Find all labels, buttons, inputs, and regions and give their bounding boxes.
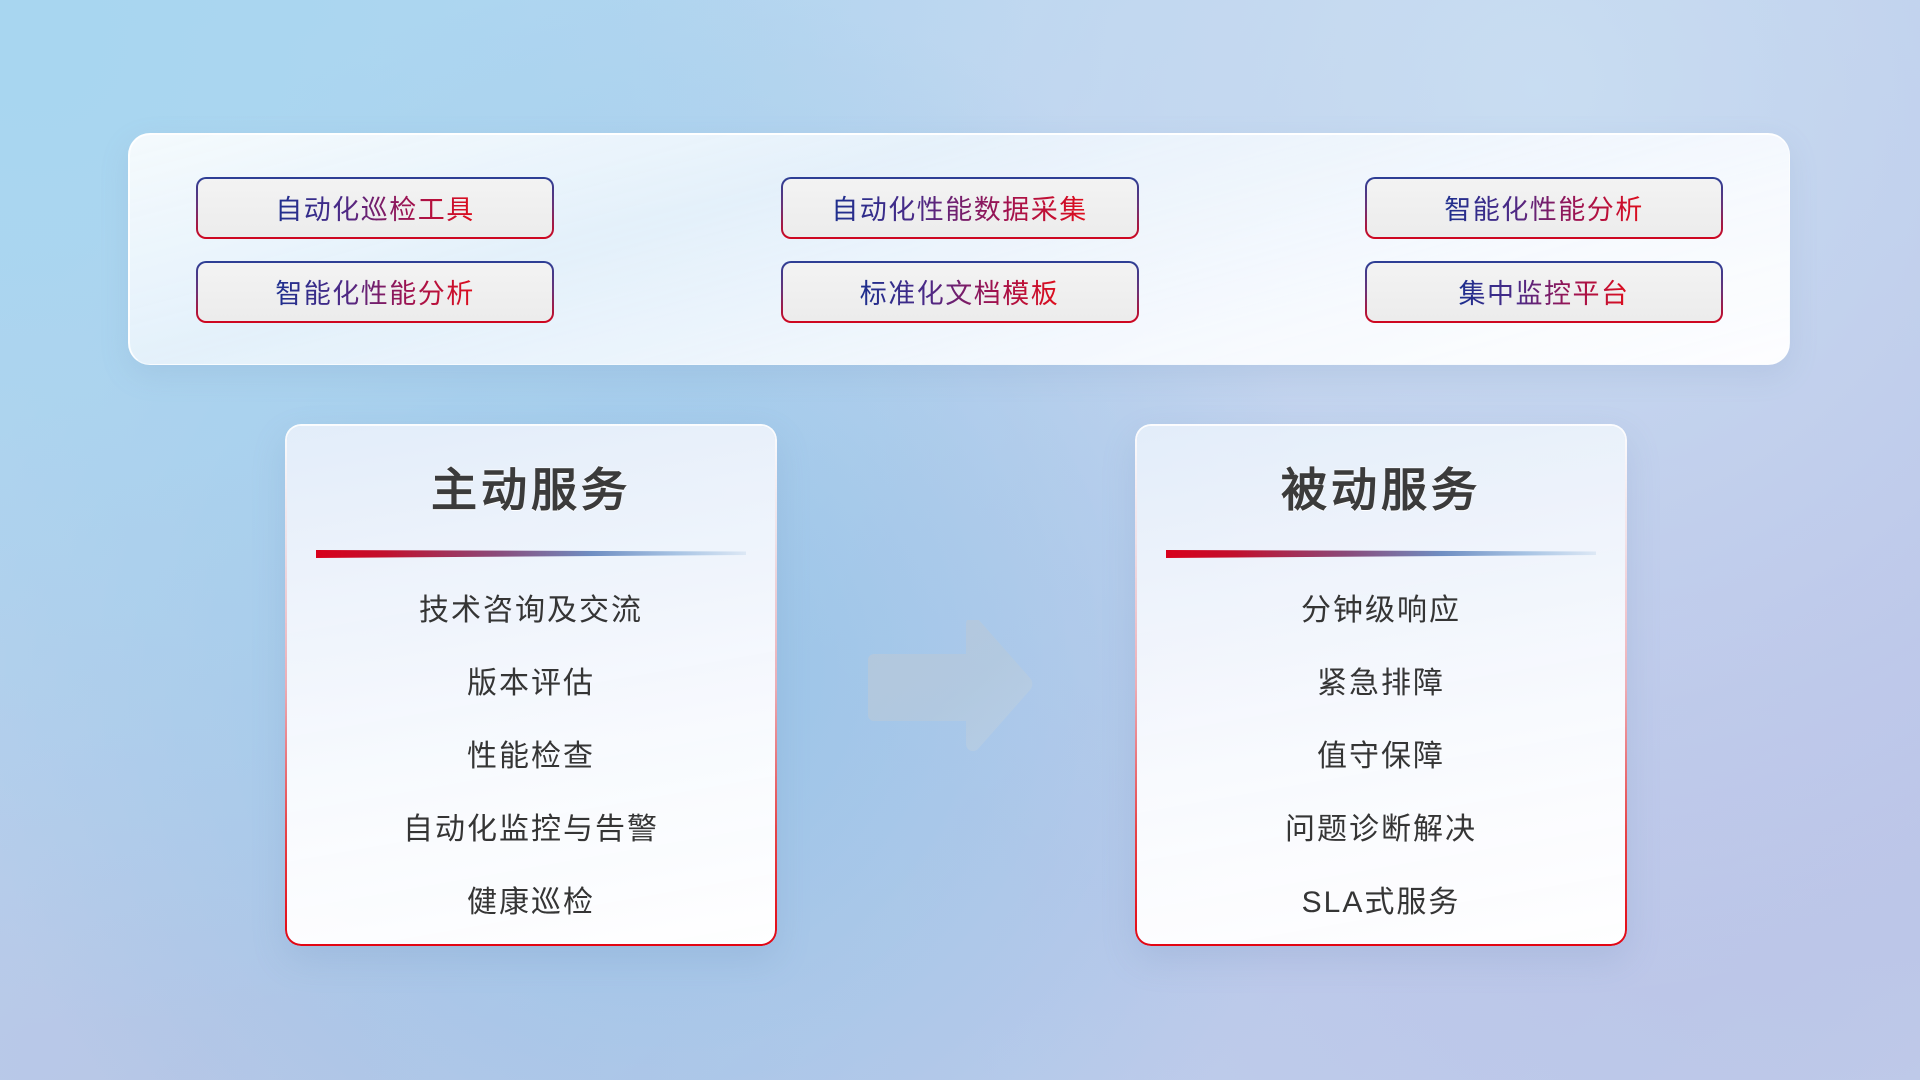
pill-body: 标准化文档模板 — [783, 263, 1137, 321]
pill-label: 智能化性能分析 — [1444, 188, 1644, 227]
service-card-reactive[interactable]: 被动服务 分钟级响应 紧急排障 值守保障 — [1135, 424, 1627, 946]
list-item: 问题诊断解决 — [1137, 815, 1625, 845]
capability-pill[interactable]: 智能化性能分析 — [1365, 177, 1723, 239]
capability-column-1: 自动化巡检工具 智能化性能分析 — [196, 177, 554, 323]
pill-label: 集中监控平台 — [1459, 272, 1630, 311]
list-item: 紧急排障 — [1137, 669, 1625, 699]
capability-column-3: 智能化性能分析 集中监控平台 — [1365, 177, 1723, 323]
list-item: 自动化监控与告警 — [287, 815, 775, 845]
arrow-right-icon — [868, 620, 1033, 755]
list-item: 版本评估 — [287, 669, 775, 699]
title-divider-icon — [1166, 548, 1596, 560]
pill-label: 自动化巡检工具 — [275, 188, 475, 227]
capability-pill[interactable]: 自动化巡检工具 — [196, 177, 554, 239]
pill-label: 标准化文档模板 — [860, 272, 1060, 311]
pill-body: 集中监控平台 — [1367, 263, 1721, 321]
capability-pill[interactable]: 自动化性能数据采集 — [781, 177, 1139, 239]
card-title: 主动服务 — [287, 426, 775, 520]
list-item: 健康巡检 — [287, 888, 775, 918]
capability-pill[interactable]: 标准化文档模板 — [781, 261, 1139, 323]
service-card-proactive[interactable]: 主动服务 技术咨询及交流 版本评估 性能检查 — [285, 424, 777, 946]
pill-body: 智能化性能分析 — [1367, 179, 1721, 237]
pill-body: 自动化性能数据采集 — [783, 179, 1137, 237]
capability-panel: 自动化巡检工具 智能化性能分析 自动化性能数据采集 标准化文档模板 — [128, 133, 1790, 365]
pill-label: 智能化性能分析 — [275, 272, 475, 311]
capability-column-2: 自动化性能数据采集 标准化文档模板 — [781, 177, 1139, 323]
pill-body: 智能化性能分析 — [198, 263, 552, 321]
pill-label: 自动化性能数据采集 — [831, 188, 1088, 227]
title-divider-icon — [316, 548, 746, 560]
list-item: SLA式服务 — [1137, 888, 1625, 918]
pill-body: 自动化巡检工具 — [198, 179, 552, 237]
service-item-list: 分钟级响应 紧急排障 值守保障 问题诊断解决 SLA式服务 — [1137, 560, 1625, 918]
list-item: 技术咨询及交流 — [287, 596, 775, 626]
list-item: 性能检查 — [287, 742, 775, 772]
capability-pill[interactable]: 集中监控平台 — [1365, 261, 1723, 323]
capability-pill[interactable]: 智能化性能分析 — [196, 261, 554, 323]
slide-canvas: 自动化巡检工具 智能化性能分析 自动化性能数据采集 标准化文档模板 — [0, 0, 1920, 1080]
list-item: 分钟级响应 — [1137, 596, 1625, 626]
service-item-list: 技术咨询及交流 版本评估 性能检查 自动化监控与告警 健康巡检 — [287, 560, 775, 918]
list-item: 值守保障 — [1137, 742, 1625, 772]
card-title: 被动服务 — [1137, 426, 1625, 520]
